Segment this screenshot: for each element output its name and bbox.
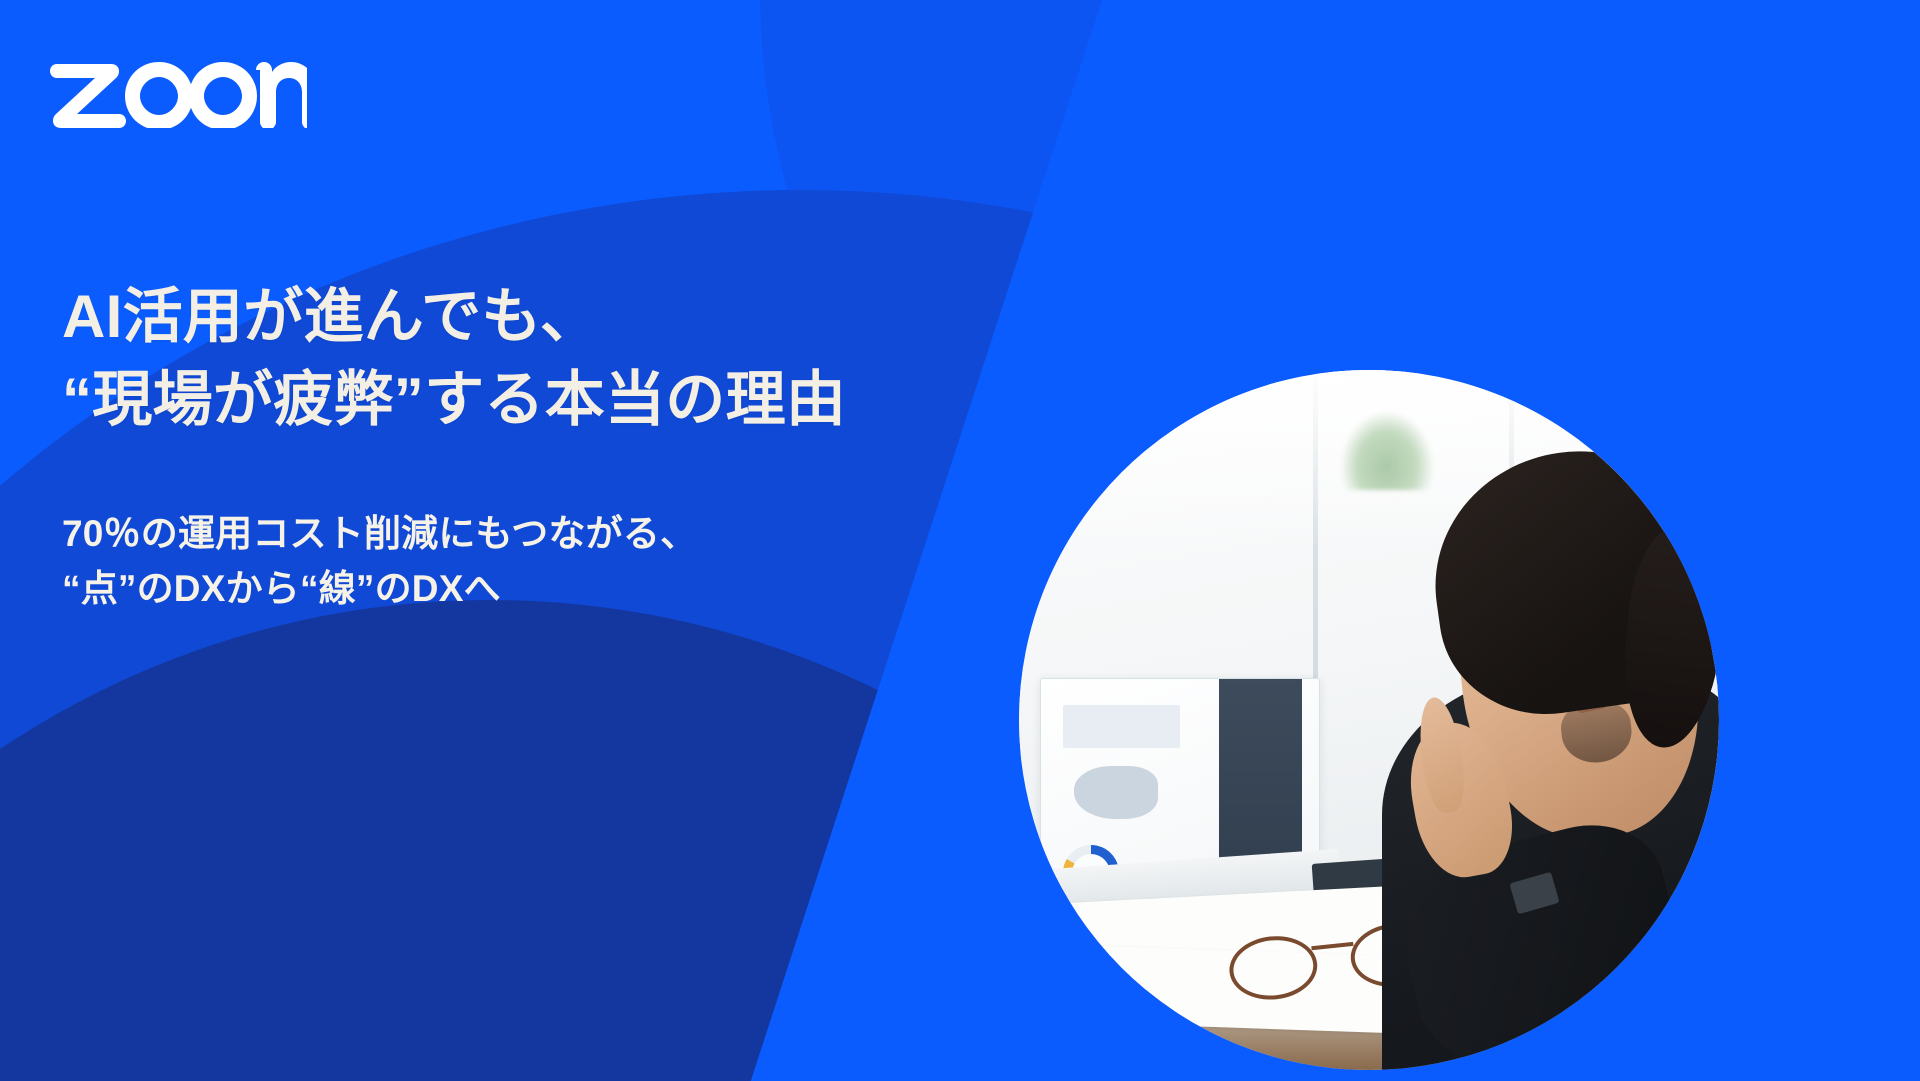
hero-copy: AI活用が進んでも、 “現場が疲弊”する本当の理由 70％の運用コスト削減にもつ… xyxy=(62,276,1022,617)
monitor-map-shape xyxy=(1074,766,1157,819)
hero-photo xyxy=(1019,370,1719,1070)
photo-scene xyxy=(1019,370,1719,1070)
hero-banner: AI活用が進んでも、 “現場が疲弊”する本当の理由 70％の運用コスト削減にもつ… xyxy=(0,0,1920,1081)
page-title: AI活用が進んでも、 “現場が疲弊”する本当の理由 xyxy=(62,276,1022,442)
zoom-wordmark-icon xyxy=(47,52,307,128)
glasses-lens-left xyxy=(1226,932,1320,1004)
subcopy-line-2: “点”のDXから“線”のDXへ xyxy=(62,561,1022,617)
headline-line-1: AI活用が進んでも、 xyxy=(62,276,1022,359)
person xyxy=(1313,426,1719,1070)
headline-line-2: “現場が疲弊”する本当の理由 xyxy=(62,359,1022,442)
subcopy-line-1: 70％の運用コスト削減にもつながる、 xyxy=(62,506,1022,562)
page-subtitle: 70％の運用コスト削減にもつながる、 “点”のDXから“線”のDXへ xyxy=(62,506,1022,617)
monitor-ui-card xyxy=(1063,705,1180,747)
zoom-logo[interactable] xyxy=(47,52,307,128)
